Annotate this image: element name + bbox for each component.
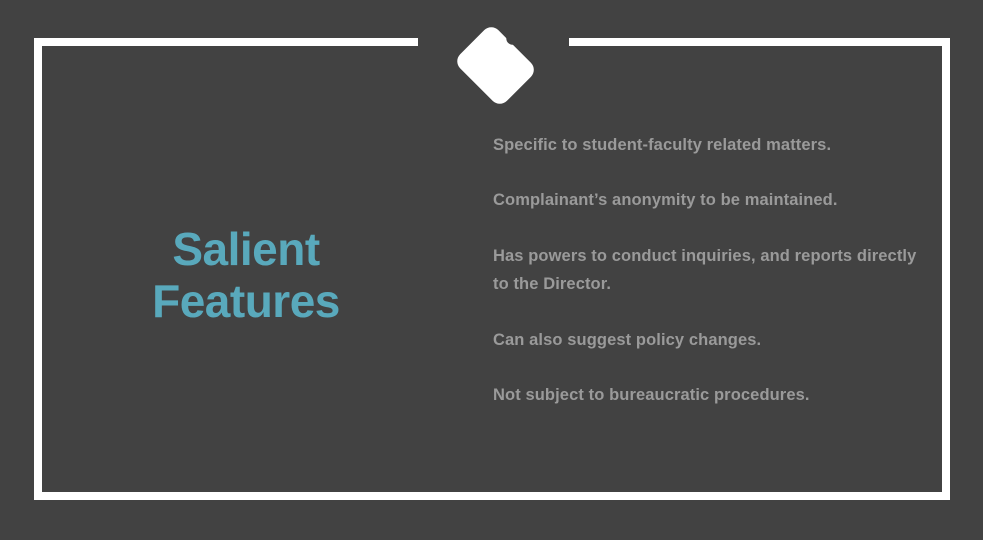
list-item: Has powers to conduct inquiries, and rep… (493, 242, 921, 299)
frame-right-segment (942, 38, 950, 500)
slide-canvas: Salient Features Specific to student-fac… (0, 0, 983, 540)
list-item: Can also suggest policy changes. (493, 326, 921, 354)
list-item: Complainant’s anonymity to be maintained… (493, 186, 921, 214)
frame-left-segment (34, 38, 42, 500)
list-item: Specific to student-faculty related matt… (493, 131, 921, 159)
frame-top-right-segment (569, 38, 950, 46)
list-item: Not subject to bureaucratic procedures. (493, 381, 921, 409)
feature-list: Specific to student-faculty related matt… (493, 131, 921, 409)
tag-icon (444, 14, 540, 110)
frame-top-left-segment (34, 38, 418, 46)
page-title: Salient Features (60, 224, 432, 328)
page-title-line-1: Salient (60, 224, 432, 276)
page-title-line-2: Features (60, 276, 432, 328)
frame-bottom-segment (34, 492, 950, 500)
